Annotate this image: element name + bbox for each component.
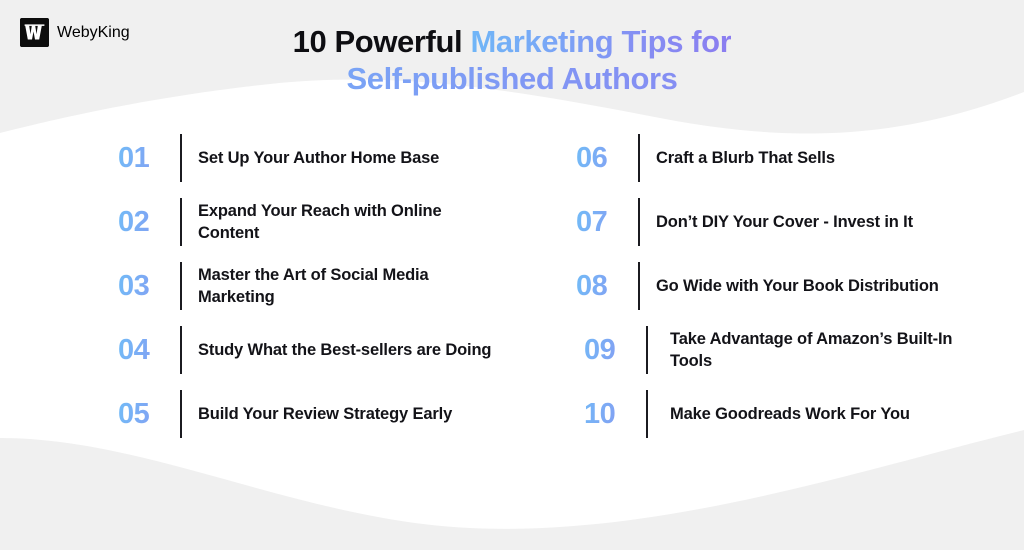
tip-number: 08 (576, 272, 638, 301)
tip-number: 06 (576, 144, 638, 173)
tip-divider (180, 134, 182, 182)
tip-divider (180, 198, 182, 246)
tip-number: 07 (576, 208, 638, 237)
tip-divider (638, 134, 640, 182)
tip-label: Master the Art of Social Media Marketing (198, 264, 498, 308)
tip-item: 03 Master the Art of Social Media Market… (118, 254, 571, 318)
tip-divider (646, 326, 648, 374)
tip-item: 10 Make Goodreads Work For You (571, 382, 1024, 446)
tip-divider (638, 262, 640, 310)
tip-label: Expand Your Reach with Online Content (198, 200, 498, 244)
tip-label: Make Goodreads Work For You (664, 403, 970, 425)
page-title-line-1: 10 Powerful Marketing Tips for (0, 24, 1024, 61)
tip-label: Take Advantage of Amazon’s Built-In Tool… (664, 328, 970, 372)
page-title: 10 Powerful Marketing Tips for Self-publ… (0, 24, 1024, 97)
tip-label: Set Up Your Author Home Base (198, 147, 498, 169)
tip-label: Build Your Review Strategy Early (198, 403, 498, 425)
tip-divider (638, 198, 640, 246)
tip-label: Go Wide with Your Book Distribution (656, 275, 956, 297)
tip-number: 10 (576, 400, 646, 429)
infographic-poster: WebyKing 10 Powerful Marketing Tips for … (0, 0, 1024, 550)
tip-item: 01 Set Up Your Author Home Base (118, 126, 571, 190)
tip-label: Study What the Best-sellers are Doing (198, 339, 498, 361)
tip-number: 09 (576, 336, 646, 365)
tip-item: 08 Go Wide with Your Book Distribution (571, 254, 1024, 318)
tips-column-left: 01 Set Up Your Author Home Base 02 Expan… (0, 126, 571, 446)
tip-divider (180, 326, 182, 374)
tip-item: 02 Expand Your Reach with Online Content (118, 190, 571, 254)
tip-divider (646, 390, 648, 438)
tip-divider (180, 390, 182, 438)
tip-number: 03 (118, 272, 180, 301)
tip-item: 09 Take Advantage of Amazon’s Built-In T… (571, 318, 1024, 382)
page-title-dark-part: 10 Powerful (293, 24, 471, 59)
tip-number: 02 (118, 208, 180, 237)
tip-number: 01 (118, 144, 180, 173)
page-title-accent-part-1: Marketing Tips for (470, 24, 731, 59)
tip-item: 04 Study What the Best-sellers are Doing (118, 318, 571, 382)
tip-item: 06 Craft a Blurb That Sells (571, 126, 1024, 190)
tips-column-right: 06 Craft a Blurb That Sells 07 Don’t DIY… (571, 126, 1024, 446)
tip-number: 04 (118, 336, 180, 365)
page-title-accent-part-2: Self-published Authors (0, 61, 1024, 98)
tip-label: Don’t DIY Your Cover - Invest in It (656, 211, 956, 233)
tip-item: 07 Don’t DIY Your Cover - Invest in It (571, 190, 1024, 254)
tip-number: 05 (118, 400, 180, 429)
tip-divider (180, 262, 182, 310)
tip-label: Craft a Blurb That Sells (656, 147, 956, 169)
tips-list: 01 Set Up Your Author Home Base 02 Expan… (0, 126, 1024, 446)
tip-item: 05 Build Your Review Strategy Early (118, 382, 571, 446)
